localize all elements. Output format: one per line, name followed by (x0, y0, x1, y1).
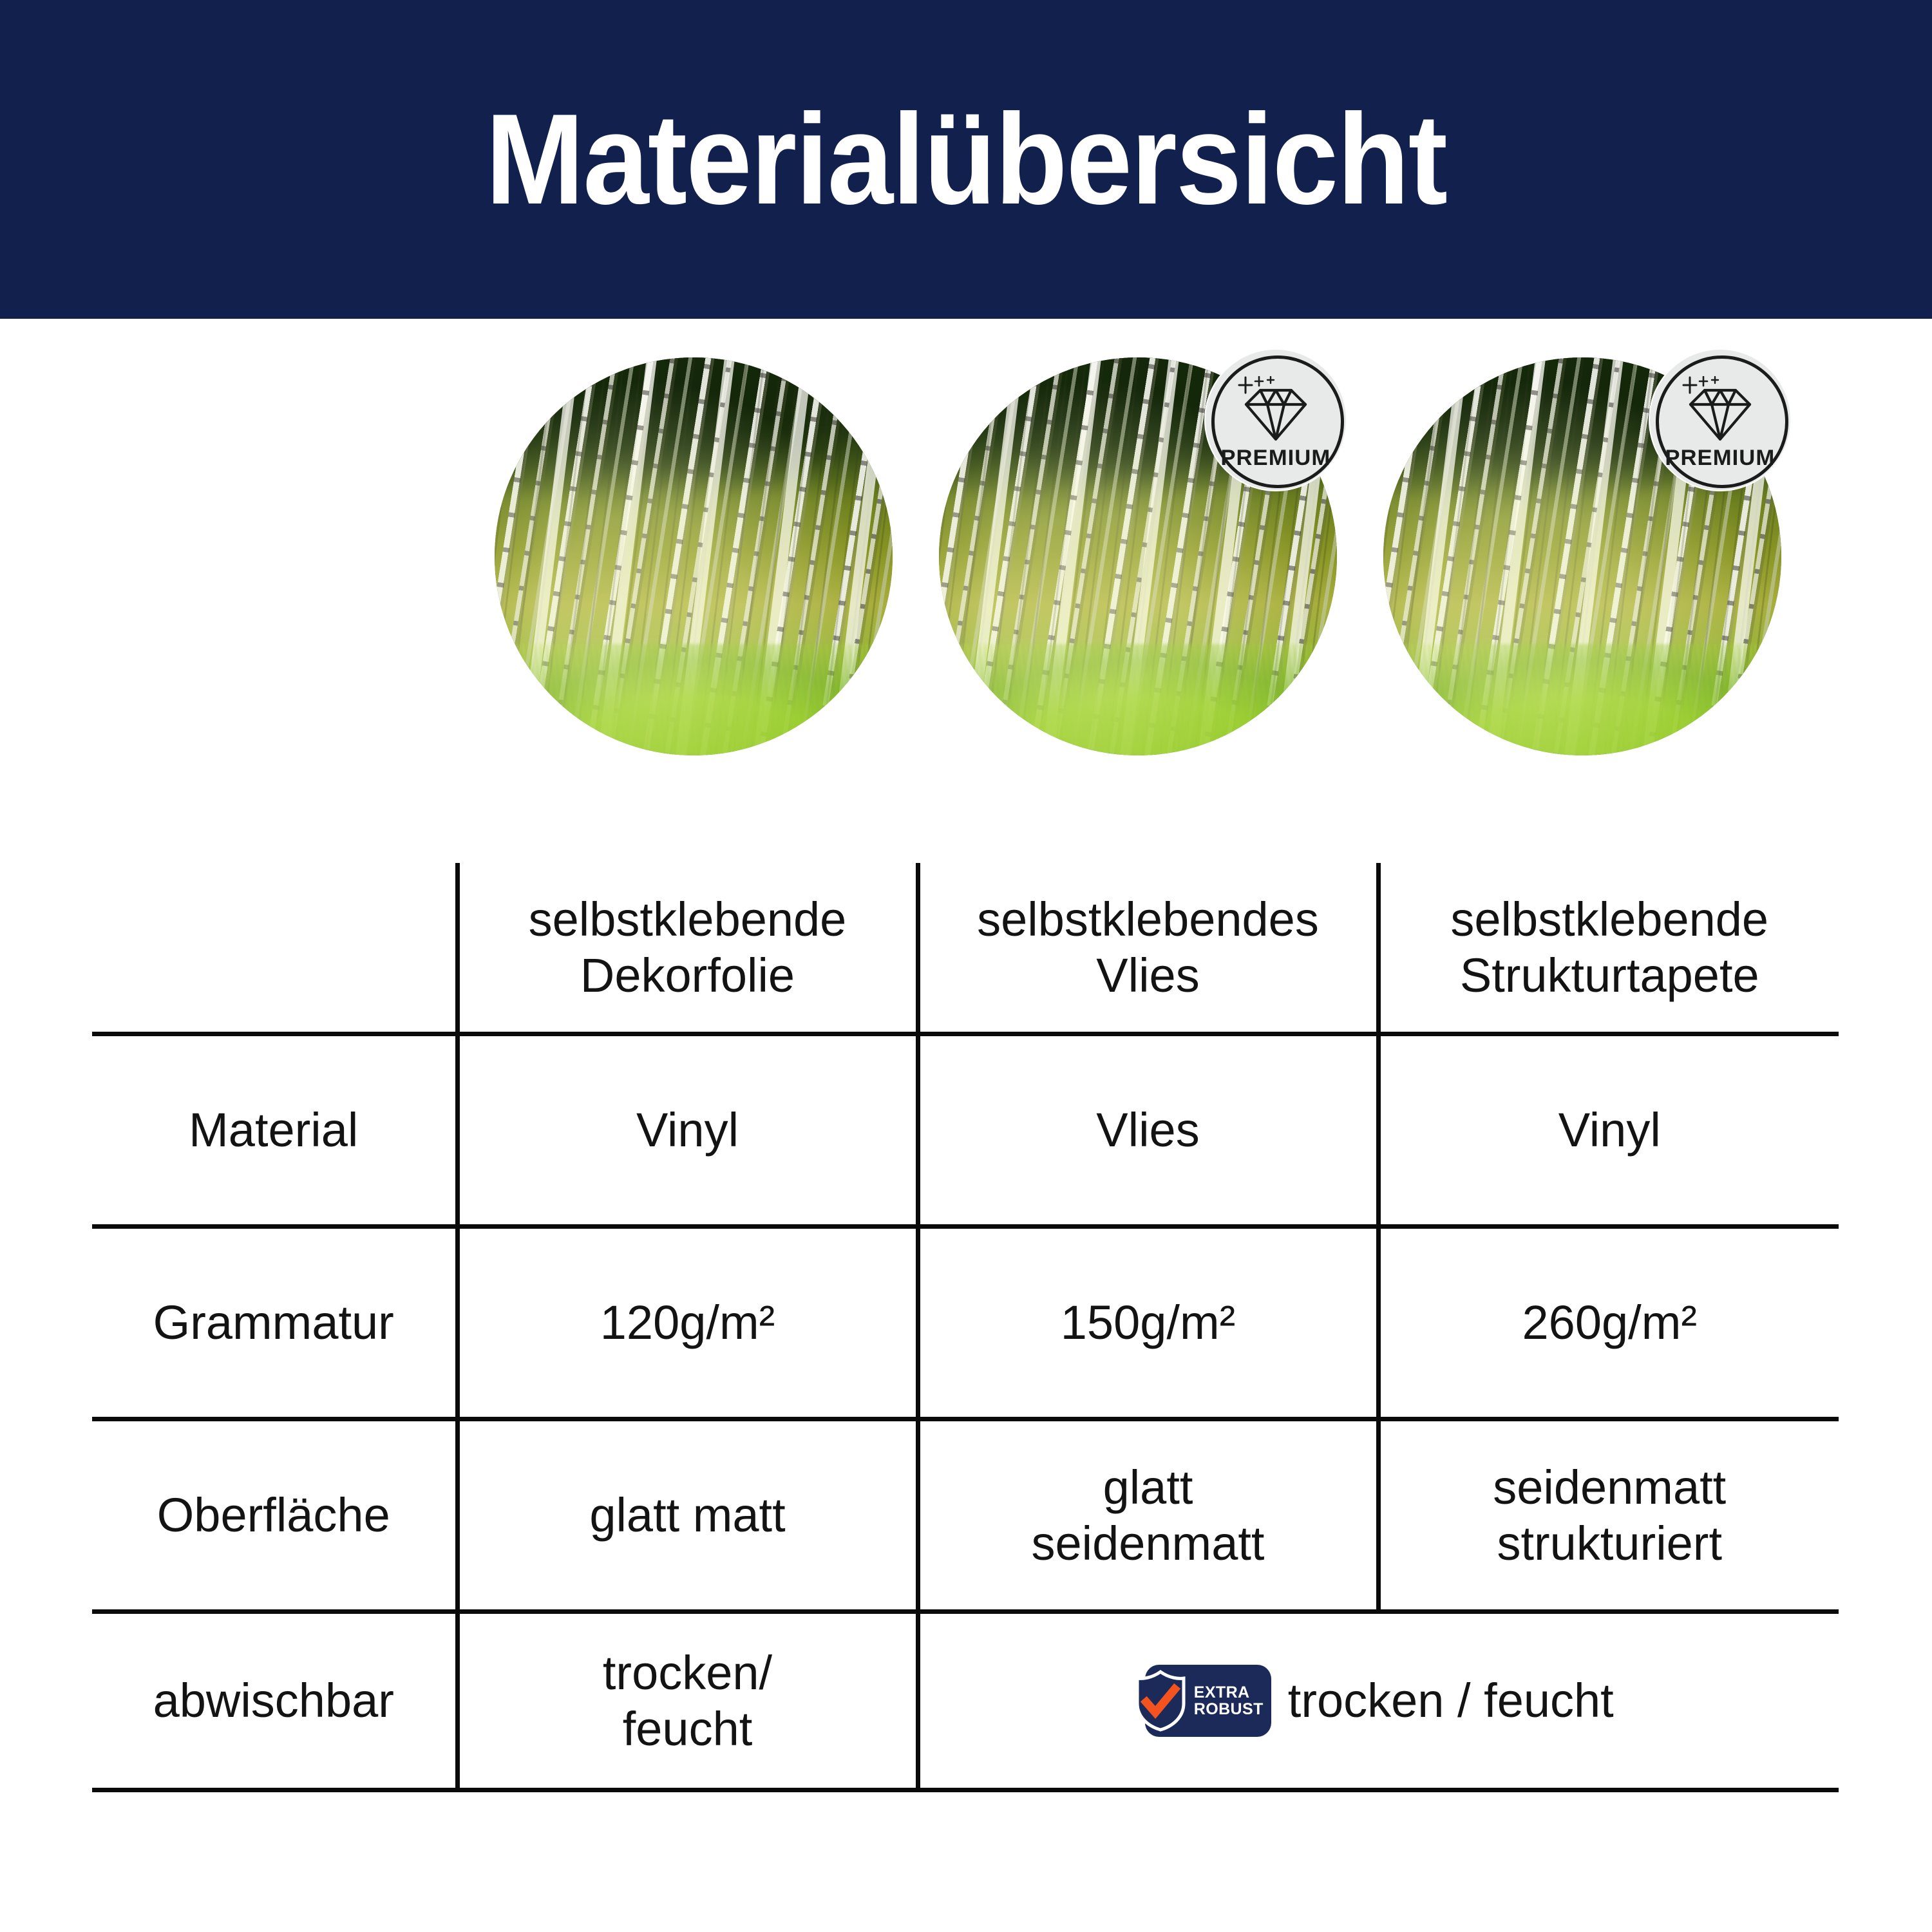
cell-oberflaeche-strukturtapete: seidenmatt strukturiert (1378, 1419, 1839, 1612)
product-preview-row: PREMIUM (0, 357, 1932, 760)
product-preview-vlies[interactable]: PREMIUM (939, 357, 1337, 755)
cell-abwischbar-merged: EXTRA ROBUST trocken / feucht (918, 1612, 1839, 1790)
premium-badge-label: PREMIUM (1665, 446, 1776, 471)
page-header: Materialübersicht (0, 0, 1932, 319)
cell-material-vlies: Vlies (918, 1034, 1378, 1227)
row-label-oberflaeche: Oberfläche (92, 1419, 457, 1612)
material-comparison-table: selbstklebende Dekorfolie selbstklebende… (92, 863, 1839, 1792)
page-title: Materialübersicht (486, 95, 1446, 224)
cell-material-strukturtapete: Vinyl (1378, 1034, 1839, 1227)
material-overview-page: Materialübersicht (0, 0, 1932, 1932)
birch-forest-photo (495, 357, 893, 755)
cell-grammatur-vlies: 150g/m² (918, 1227, 1378, 1419)
cell-abwischbar-dekorfolie: trocken/ feucht (457, 1612, 918, 1790)
premium-badge: PREMIUM (1650, 350, 1790, 490)
diamond-icon (1237, 376, 1314, 443)
shield-check-icon (1133, 1670, 1188, 1732)
diamond-icon (1681, 376, 1759, 443)
row-label-grammatur: Grammatur (92, 1227, 457, 1419)
table-row-grammatur: Grammatur 120g/m² 150g/m² 260g/m² (92, 1227, 1839, 1419)
column-header-vlies: selbstklebendes Vlies (918, 863, 1378, 1034)
column-header-strukturtapete: selbstklebende Strukturtapete (1378, 863, 1839, 1034)
table-row-abwischbar: abwischbar trocken/ feucht (92, 1612, 1839, 1790)
cell-oberflaeche-dekorfolie: glatt matt (457, 1419, 918, 1612)
premium-badge: PREMIUM (1206, 350, 1346, 490)
cell-grammatur-dekorfolie: 120g/m² (457, 1227, 918, 1419)
cell-abwischbar-merged-text: trocken / feucht (1288, 1672, 1614, 1728)
robust-line-2: ROBUST (1194, 1701, 1264, 1718)
extra-robust-badge: EXTRA ROBUST (1145, 1665, 1271, 1737)
cell-material-dekorfolie: Vinyl (457, 1034, 918, 1227)
robust-line-1: EXTRA (1194, 1684, 1264, 1701)
column-header-dekorfolie: selbstklebende Dekorfolie (457, 863, 918, 1034)
table-header-row: selbstklebende Dekorfolie selbstklebende… (92, 863, 1839, 1034)
row-label-material: Material (92, 1034, 457, 1227)
cell-oberflaeche-vlies: glatt seidenmatt (918, 1419, 1378, 1612)
product-preview-dekorfolie[interactable] (495, 357, 893, 755)
row-label-abwischbar: abwischbar (92, 1612, 457, 1790)
product-preview-strukturtapete[interactable]: PREMIUM (1383, 357, 1781, 755)
table-corner-cell (92, 863, 457, 1034)
premium-badge-label: PREMIUM (1221, 446, 1331, 471)
table-row-oberflaeche: Oberfläche glatt matt glatt seidenmatt s… (92, 1419, 1839, 1612)
extra-robust-label: EXTRA ROBUST (1194, 1684, 1264, 1718)
table-row-material: Material Vinyl Vlies Vinyl (92, 1034, 1839, 1227)
cell-grammatur-strukturtapete: 260g/m² (1378, 1227, 1839, 1419)
